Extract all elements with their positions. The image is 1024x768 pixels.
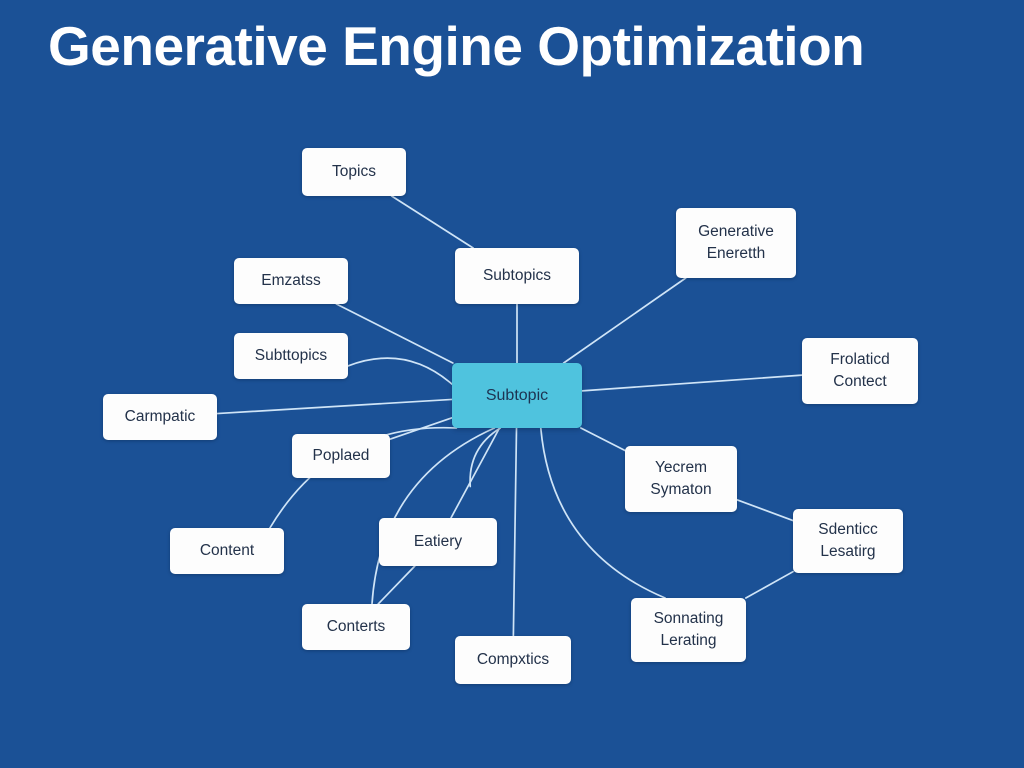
page-title: Generative Engine Optimization <box>48 10 988 82</box>
node-emzatss[interactable]: Emzatss <box>234 258 348 304</box>
node-frolaticd-contect[interactable]: Frolaticd Contect <box>802 338 918 404</box>
edge-eatiery-to-conterts <box>378 566 415 604</box>
edge-center-to-yecrem-symaton <box>581 428 625 450</box>
node-poplaed[interactable]: Poplaed <box>292 434 390 478</box>
node-subttopics[interactable]: Subttopics <box>234 333 348 379</box>
node-compxtics[interactable]: Compxtics <box>455 636 571 684</box>
node-generative-eneretth[interactable]: Generative Eneretth <box>676 208 796 278</box>
edge-yecrem-symaton-to-sdenticc-lesatirg <box>737 500 793 521</box>
slide-canvas: Generative Engine Optimization SubtopicT… <box>0 0 1024 768</box>
edge-center-to-carmpatic <box>217 399 452 413</box>
edge-center-to-frolaticd-contect <box>582 375 802 391</box>
node-sonnating-lerating[interactable]: Sonnating Lerating <box>631 598 746 662</box>
node-topics[interactable]: Topics <box>302 148 406 196</box>
node-eatiery[interactable]: Eatiery <box>379 518 497 566</box>
node-carmpatic[interactable]: Carmpatic <box>103 394 217 440</box>
node-yecrem-symaton[interactable]: Yecrem Symaton <box>625 446 737 512</box>
edge-sdenticc-lesatirg-to-sonnating-lerating <box>746 572 793 598</box>
edge-center-to-arc-left <box>470 428 500 487</box>
edge-center-to-compxtics <box>513 428 516 636</box>
edge-subtopics-top-to-topics <box>392 196 474 248</box>
center-node[interactable]: Subtopic <box>452 363 582 428</box>
edge-center-to-subttopics <box>348 358 452 384</box>
node-sdenticc-lesatirg[interactable]: Sdenticc Lesatirg <box>793 509 903 573</box>
edge-center-to-emzatss <box>336 304 452 363</box>
edge-center-to-eatiery <box>451 428 500 518</box>
edge-center-to-generative-eneretth <box>564 278 686 363</box>
node-conterts[interactable]: Conterts <box>302 604 410 650</box>
node-content[interactable]: Content <box>170 528 284 574</box>
node-subtopics-top[interactable]: Subtopics <box>455 248 579 304</box>
